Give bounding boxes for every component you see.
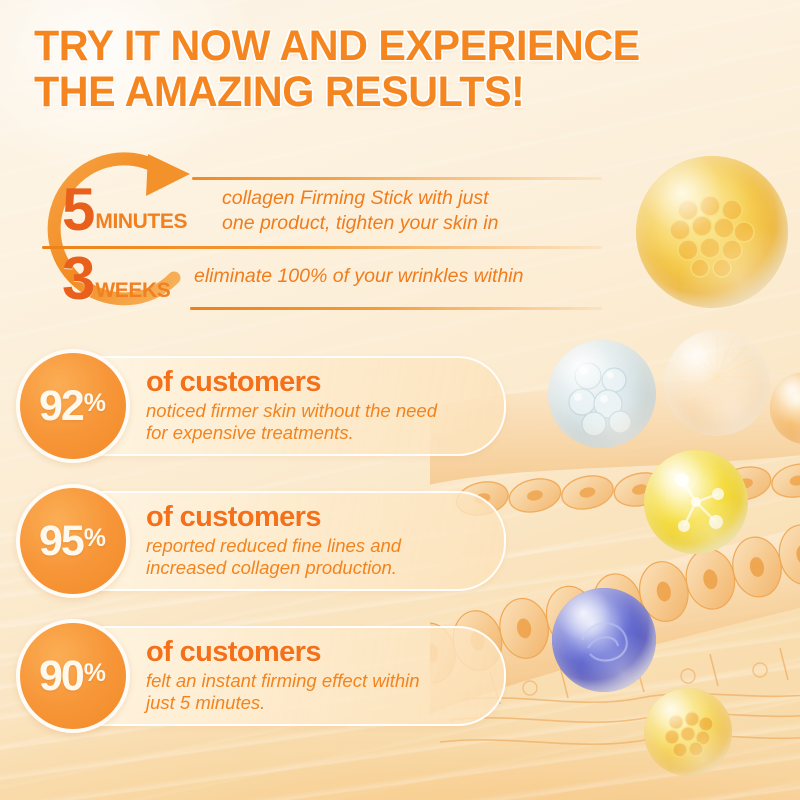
page-title: TRY IT NOW AND EXPERIENCE THE AMAZING RE…: [34, 24, 706, 115]
stat-card: 95 % of customers reported reduced fine …: [22, 491, 506, 591]
timing-block: 5 MINUTES collagen Firming Stick with ju…: [22, 148, 622, 316]
divider-bottom: [190, 307, 602, 310]
stat-percent-value: 92: [39, 385, 83, 428]
stat-card-title: of customers: [146, 503, 491, 533]
percent-symbol: %: [84, 526, 106, 551]
stat-percent-value: 90: [39, 655, 83, 698]
stat-badge-text: 92 %: [39, 385, 105, 428]
timing-row-weeks: 3 WEEKS: [62, 251, 170, 306]
stat-card-title: of customers: [146, 368, 491, 398]
promo-poster: TRY IT NOW AND EXPERIENCE THE AMAZING RE…: [0, 0, 800, 800]
timing-number-weeks: 3: [62, 251, 93, 306]
swirl-sphere: [552, 588, 656, 692]
stat-card-body: of customers felt an instant firming eff…: [146, 638, 491, 715]
timing-row-minutes: 5 MINUTES: [62, 182, 187, 237]
stat-card-title: of customers: [146, 638, 491, 668]
stat-badge: 95 %: [16, 484, 130, 598]
stat-card-description: reported reduced fine lines and increase…: [146, 535, 491, 580]
honeycomb-sphere-large: [636, 156, 788, 308]
stat-badge: 92 %: [16, 349, 130, 463]
stat-badge-text: 90 %: [39, 655, 105, 698]
stat-percent-value: 95: [39, 520, 83, 563]
stat-card-description: felt an instant firming effect within ju…: [146, 670, 491, 715]
honeycomb-sphere-small: [644, 688, 732, 776]
stat-card-body: of customers noticed firmer skin without…: [146, 368, 491, 445]
divider-middle: [42, 246, 602, 249]
bubble-cluster-sphere: [548, 340, 656, 448]
timing-unit-minutes: MINUTES: [95, 210, 187, 234]
molecule-sphere: [644, 450, 748, 554]
percent-symbol: %: [84, 661, 106, 686]
radial-burst-sphere: [664, 330, 770, 436]
stat-badge-text: 95 %: [39, 520, 105, 563]
stat-card: 92 % of customers noticed firmer skin wi…: [22, 356, 506, 456]
stat-card-body: of customers reported reduced fine lines…: [146, 503, 491, 580]
percent-symbol: %: [84, 391, 106, 416]
timing-text-minutes: collagen Firming Stick with just one pro…: [222, 186, 498, 236]
stat-card: 90 % of customers felt an instant firmin…: [22, 626, 506, 726]
timing-unit-weeks: WEEKS: [95, 279, 170, 303]
timing-rows: 5 MINUTES collagen Firming Stick with ju…: [22, 148, 622, 316]
timing-number-minutes: 5: [62, 182, 93, 237]
timing-text-weeks: eliminate 100% of your wrinkles within: [194, 264, 523, 289]
stat-card-description: noticed firmer skin without the need for…: [146, 400, 491, 445]
stat-badge: 90 %: [16, 619, 130, 733]
divider-top: [192, 177, 602, 180]
